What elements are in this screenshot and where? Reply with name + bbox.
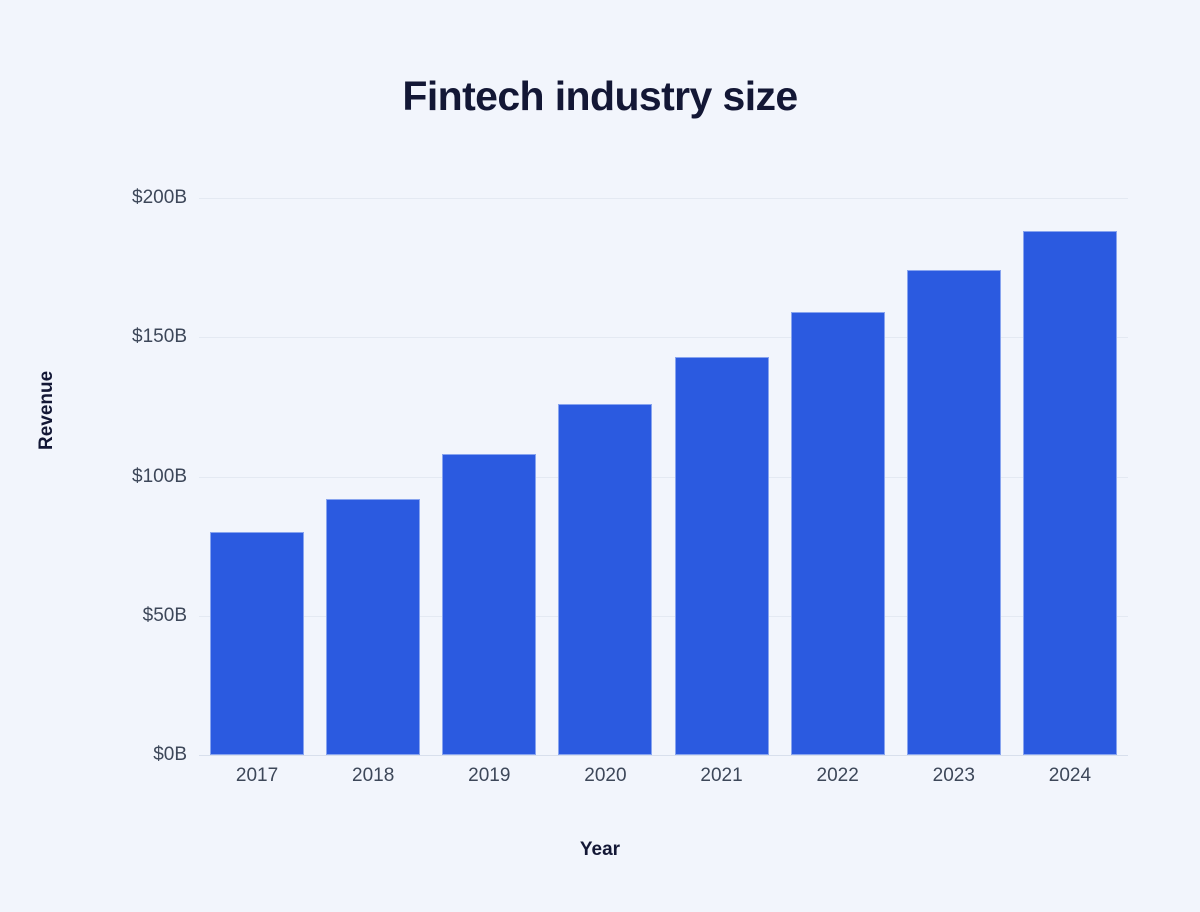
bar-2018[interactable] (326, 499, 420, 755)
chart-title: Fintech industry size (0, 72, 1200, 121)
bar-2019[interactable] (442, 454, 536, 755)
x-axis-tick-label: 2018 (313, 765, 433, 787)
y-axis-tick-label: $200B (0, 187, 187, 209)
x-axis-tick-label: 2022 (778, 765, 898, 787)
y-axis-tick-label: $50B (0, 605, 187, 627)
y-axis-tick-label: $100B (0, 466, 187, 488)
x-axis-tick-label: 2024 (1010, 765, 1130, 787)
bar-2023[interactable] (907, 270, 1001, 755)
bar-2022[interactable] (791, 312, 885, 755)
y-axis-tick-label: $0B (0, 744, 187, 766)
gridline (199, 198, 1128, 199)
plot-area (199, 198, 1128, 755)
bar-2017[interactable] (210, 532, 304, 755)
x-axis-tick-label: 2019 (429, 765, 549, 787)
x-axis-title: Year (0, 839, 1200, 861)
y-axis-tick-label: $150B (0, 326, 187, 348)
bar-2020[interactable] (558, 404, 652, 755)
x-axis-tick-label: 2021 (662, 765, 782, 787)
x-axis-tick-label: 2017 (197, 765, 317, 787)
x-axis-tick-label: 2020 (545, 765, 665, 787)
x-axis-tick-label: 2023 (894, 765, 1014, 787)
bar-2021[interactable] (675, 357, 769, 755)
bar-2024[interactable] (1023, 231, 1117, 755)
gridline (199, 755, 1128, 756)
y-axis-title: Revenue (36, 371, 58, 450)
chart-canvas: Fintech industry size Revenue $0B$50B$10… (0, 0, 1200, 912)
